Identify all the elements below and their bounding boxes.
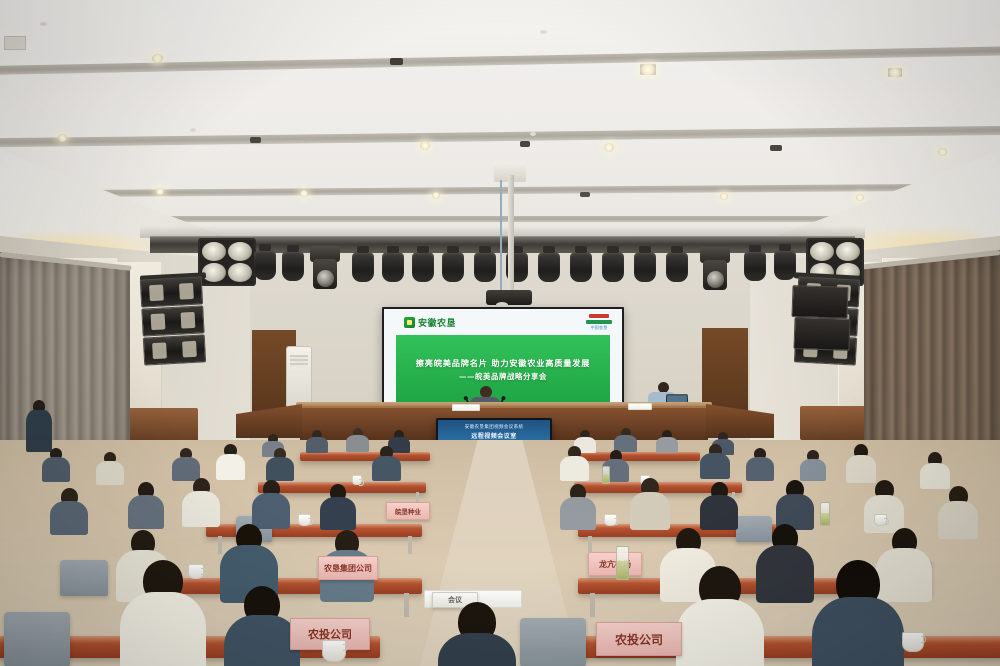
window-curtain-left [0, 252, 130, 462]
water-bottle [602, 466, 610, 484]
smoke-detector [190, 128, 196, 132]
papers-on-podium [628, 403, 652, 410]
par-can-light [282, 251, 304, 281]
par-can-light [570, 252, 592, 282]
attendee [846, 444, 876, 483]
par-can-light [382, 252, 404, 282]
water-bottle [616, 546, 629, 580]
table-placard: 农垦集团公司 [318, 556, 378, 580]
water-bottle [820, 502, 830, 526]
subwoofer-speaker [791, 285, 848, 319]
par-can-light [412, 252, 434, 282]
attendee [560, 484, 596, 530]
downlight [720, 193, 728, 200]
attendee [920, 452, 950, 489]
attendee [182, 478, 220, 527]
anhui-nongken-logo: 安徽农垦 [404, 316, 456, 329]
teacup [902, 632, 924, 652]
downlight [420, 141, 430, 150]
teacup [322, 640, 346, 662]
screen-subline: ——皖美品牌战略分享会 [396, 371, 610, 382]
smoke-detector [40, 22, 47, 26]
attendee [676, 566, 764, 666]
chair[interactable] [4, 612, 70, 666]
attendee [96, 452, 124, 485]
teacup [298, 514, 311, 526]
table-placard: 农投公司 [596, 622, 682, 656]
attendee [656, 430, 678, 453]
table-placard: 皖垦种业 [386, 502, 430, 520]
standing-attendee [26, 400, 52, 452]
ceiling-grille [580, 192, 590, 197]
logo-bar-red-icon [589, 314, 609, 318]
attendee [172, 448, 200, 481]
attendee [306, 430, 328, 453]
ceiling-grille [770, 145, 782, 151]
downlight [888, 68, 902, 77]
par-can-light [602, 252, 624, 282]
attendee [746, 448, 774, 481]
monitor-line2: 远程视频会议室 [438, 431, 550, 440]
attendee [372, 446, 401, 481]
screen-logo-text: 安徽农垦 [418, 316, 456, 329]
papers-on-podium [452, 404, 480, 411]
smoke-detector [540, 30, 547, 34]
attendee [42, 448, 70, 482]
ceiling-light-track [0, 125, 1000, 147]
attendee [252, 480, 290, 529]
ceiling-vent [4, 36, 26, 50]
attendee [320, 484, 356, 530]
light-bank [198, 238, 256, 286]
par-can-light [666, 252, 688, 282]
attendee [560, 446, 589, 481]
attendee [614, 428, 637, 452]
downlight [432, 192, 440, 199]
table-leg [404, 593, 409, 617]
chair[interactable] [60, 560, 108, 596]
projector-cable [500, 180, 502, 292]
downlight [58, 134, 67, 142]
moving-head-light [700, 247, 730, 291]
smoke-detector [530, 132, 536, 136]
attendee [812, 560, 904, 666]
monitor-line1: 安徽农垦集团视频会议系统 [438, 424, 550, 430]
attendee [438, 602, 516, 666]
table-leg [408, 536, 412, 554]
ceiling-grille [390, 58, 403, 65]
table-placard: 龙亢农场 [588, 552, 642, 576]
teacup [874, 514, 887, 526]
attendee [938, 486, 978, 539]
attendee [630, 478, 670, 530]
downlight [938, 148, 947, 156]
ceiling-projector [486, 290, 532, 305]
par-can-light [774, 250, 796, 280]
logo-bar-green-icon [586, 320, 612, 324]
screen-headline: 擦亮皖美品牌名片 助力安徽农业高质量发展 [396, 357, 610, 369]
par-can-light [634, 252, 656, 282]
line-array-speaker-left [140, 276, 206, 366]
window-curtain-right [864, 250, 1000, 462]
par-can-light [744, 251, 766, 281]
attendee [700, 482, 738, 530]
projector-pole [508, 175, 514, 293]
attendee [128, 482, 164, 529]
attendee [776, 480, 814, 530]
downlight [604, 143, 614, 152]
teacup [604, 514, 617, 526]
ceiling-grille [520, 141, 530, 147]
par-can-light [442, 252, 464, 282]
ceiling-panel [0, 0, 1000, 56]
downlight [156, 188, 164, 195]
par-can-light [538, 252, 560, 282]
par-can-light [352, 252, 374, 282]
chair[interactable] [520, 618, 586, 666]
downlight [300, 190, 308, 197]
table-leg [590, 593, 595, 617]
downlight [152, 54, 163, 63]
par-can-light [254, 250, 276, 280]
downlight [640, 64, 656, 75]
attendee [50, 488, 88, 535]
secondary-logo: 中国农垦 [586, 314, 612, 331]
attendee [346, 428, 369, 452]
attendee [120, 560, 206, 666]
logo-mark-icon [404, 317, 415, 328]
subwoofer-speaker [793, 317, 850, 351]
secondary-logo-text: 中国农垦 [586, 325, 612, 331]
attendee [800, 450, 826, 481]
downlight [856, 194, 864, 201]
attendee [756, 524, 814, 603]
attendee [224, 586, 300, 666]
moving-head-light [310, 246, 340, 290]
par-can-light [474, 252, 496, 282]
ceiling-grille [250, 137, 261, 143]
attendee [700, 444, 730, 479]
attendee [266, 448, 294, 481]
attendee [216, 444, 245, 480]
conference-hall-photo: 安徽农垦 中国农垦 擦亮皖美品牌名片 助力安徽农业高质量发展 ——皖美品牌战略分… [0, 0, 1000, 666]
